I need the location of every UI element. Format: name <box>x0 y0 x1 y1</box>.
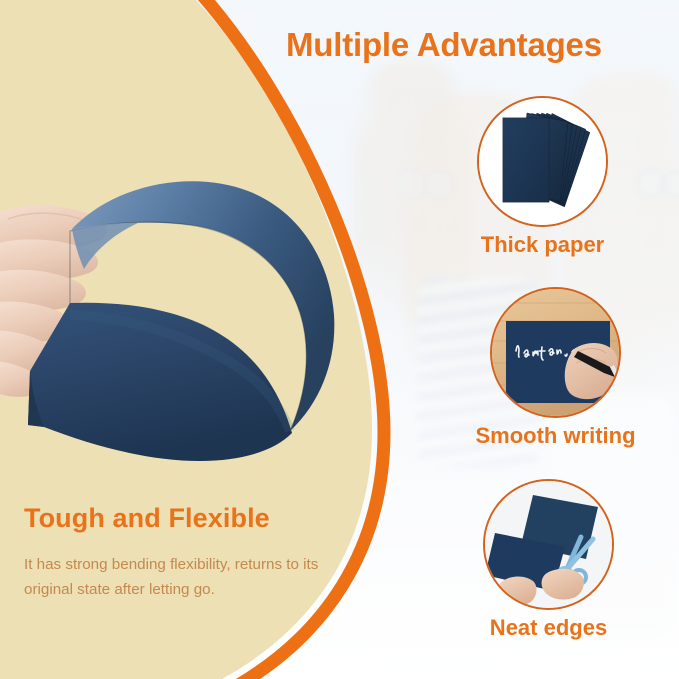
neat-edges-circle <box>483 479 614 610</box>
paper-curl-highlight <box>72 223 138 269</box>
left-panel-heading: Tough and Flexible <box>24 503 270 534</box>
photo-hand-bending-cardstock <box>0 175 345 475</box>
smooth-writing-circle <box>490 287 621 418</box>
badge-label: Smooth writing <box>475 423 635 449</box>
left-panel-body: It has strong bending flexibility, retur… <box>24 552 344 602</box>
feature-badge-neat-edges[interactable]: Neat edges <box>483 479 614 610</box>
feature-badge-thick-paper[interactable]: Thick paper <box>477 96 608 227</box>
infographic-canvas: Tough and Flexible It has strong bending… <box>0 0 679 679</box>
page-title: Multiple Advantages <box>286 26 676 64</box>
feature-badge-smooth-writing[interactable]: Smooth writing <box>490 287 621 418</box>
thick-paper-circle <box>477 96 608 227</box>
badge-label: Thick paper <box>481 232 604 258</box>
badge-label: Neat edges <box>490 615 607 641</box>
